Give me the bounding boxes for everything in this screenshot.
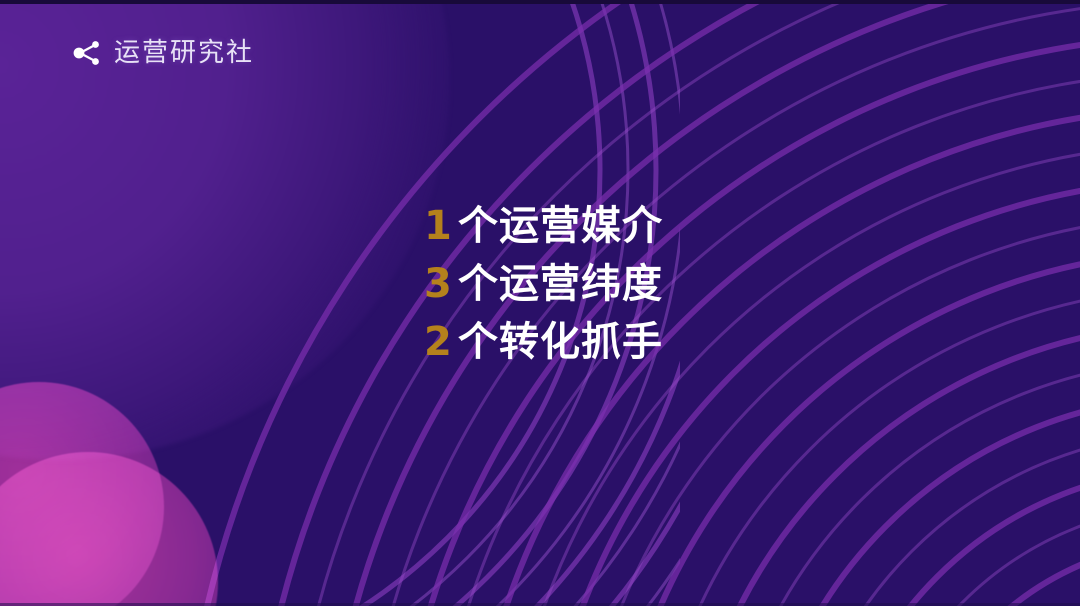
headline-block: 1 个运营媒介 3 个运营纬度 2 个转化抓手 [0,206,1080,362]
headline-number: 3 [424,264,458,304]
headline-line: 2 个转化抓手 [424,322,656,362]
brand-name: 运营研究社 [114,40,254,66]
headline-phrase: 个转化抓手 [458,322,663,362]
share-icon [70,36,104,70]
top-edge-band [0,0,1080,4]
headline-number: 1 [424,206,458,246]
headline-phrase: 个运营纬度 [458,264,663,304]
brand-logo: 运营研究社 [70,36,254,70]
headline-line: 1 个运营媒介 [424,206,656,246]
headline-phrase: 个运营媒介 [458,206,663,246]
slide-canvas: 运营研究社 1 个运营媒介 3 个运营纬度 2 个转化抓手 [0,0,1080,606]
headline-number: 2 [424,322,458,362]
headline-line: 3 个运营纬度 [424,264,656,304]
